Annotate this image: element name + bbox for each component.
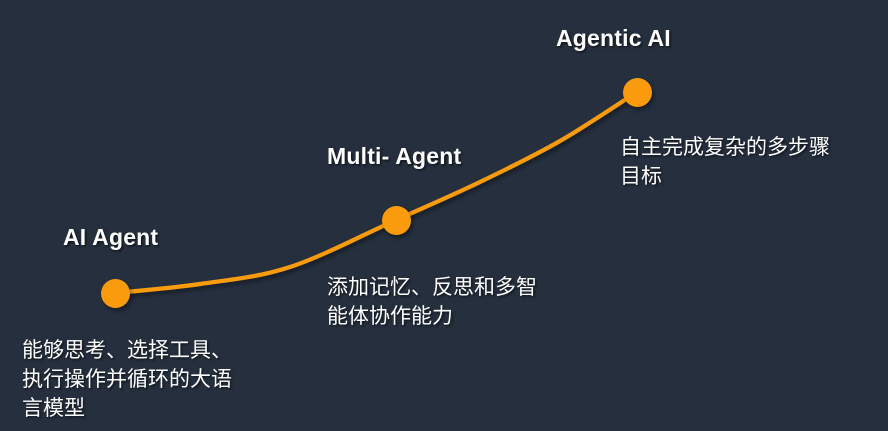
stage-description-line: 能够思考、选择工具、 <box>22 337 232 366</box>
stage-description-line: 目标 <box>620 163 830 192</box>
node-dot-ai-agent[interactable] <box>101 279 130 308</box>
stage-description-line: 执行操作并循环的大语 <box>22 366 232 395</box>
stage-title-ai-agent: AI Agent <box>63 224 158 251</box>
stage-description-line: 自主完成复杂的多步骤 <box>620 134 830 163</box>
stage-title-agentic-ai: Agentic AI <box>556 25 671 52</box>
stage-description-line: 言模型 <box>22 395 232 424</box>
stage-description-line: 添加记忆、反思和多智 <box>327 274 537 303</box>
stage-description-multi-agent: 添加记忆、反思和多智 能体协作能力 <box>327 274 537 332</box>
curve-path <box>115 92 637 293</box>
evolution-curve-slide: AI Agent Multi- Agent Agentic AI 能够思考、选择… <box>0 0 888 431</box>
stage-title-multi-agent: Multi- Agent <box>327 143 461 170</box>
stage-description-line: 能体协作能力 <box>327 303 537 332</box>
node-dot-multi-agent[interactable] <box>382 206 411 235</box>
node-dot-agentic-ai[interactable] <box>623 78 652 107</box>
stage-description-agentic-ai: 自主完成复杂的多步骤 目标 <box>620 134 830 192</box>
stage-description-ai-agent: 能够思考、选择工具、 执行操作并循环的大语 言模型 <box>22 337 232 424</box>
